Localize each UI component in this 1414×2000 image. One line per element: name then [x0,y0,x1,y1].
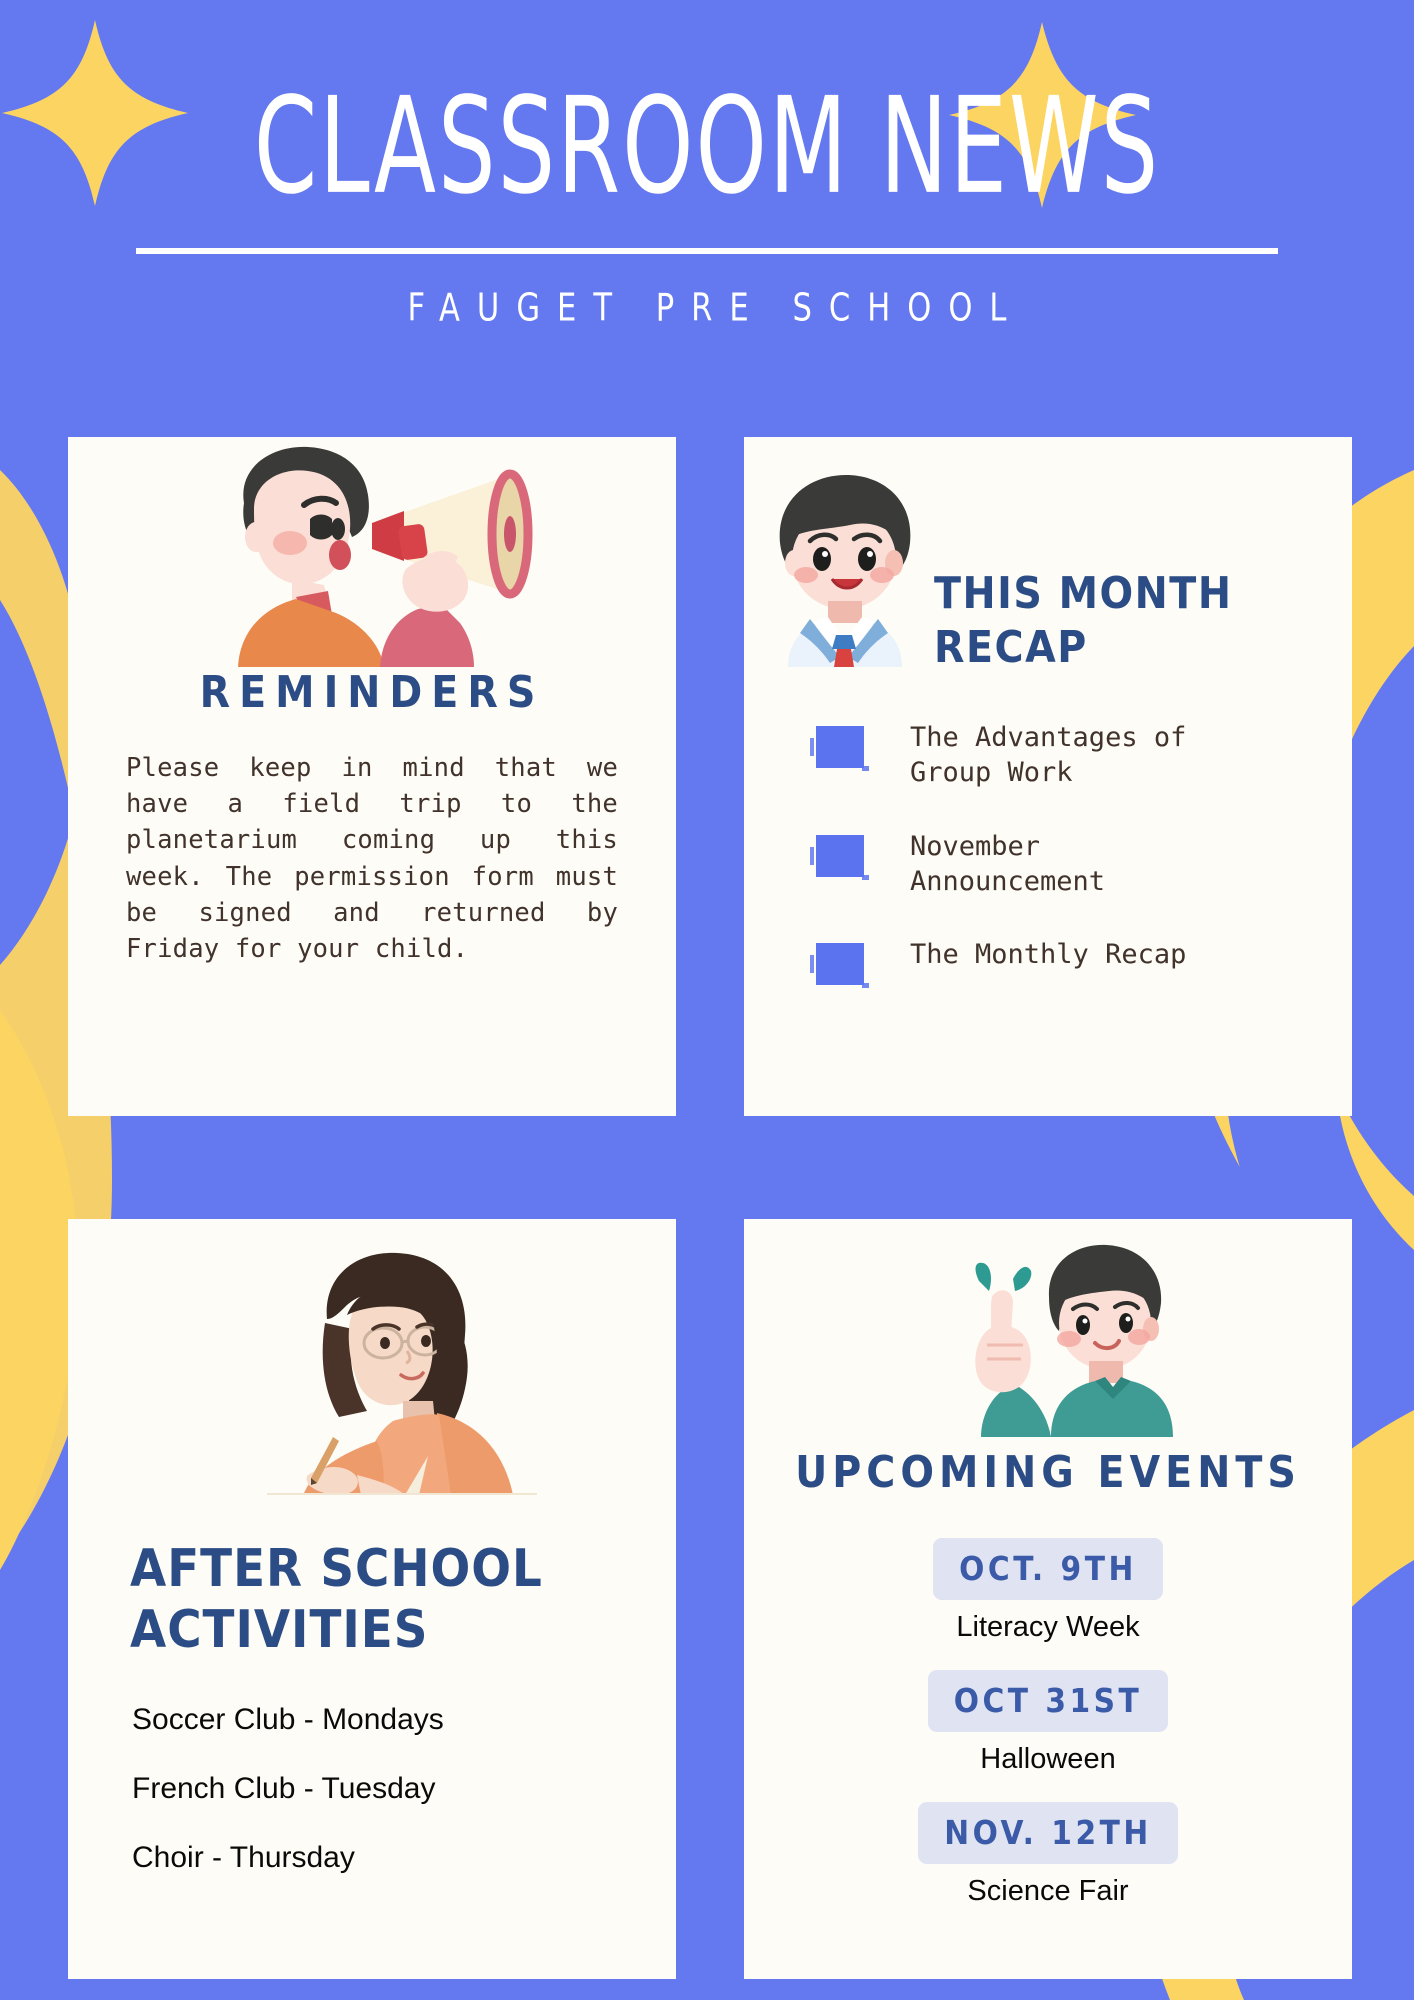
event-name: Literacy Week [744,1611,1352,1644]
card-after-school: AFTER SCHOOL ACTIVITIES Soccer Club - Mo… [68,1219,676,1979]
recap-item-label: The Advantages of Group Work [910,720,1220,790]
list-item: November Announcement [780,829,1352,899]
event-date-badge: OCT. 9TH [933,1538,1163,1600]
sailor-boy-illustration [754,467,934,671]
recap-item-label: November Announcement [910,829,1220,899]
megaphone-illustration [68,437,676,667]
cards-grid: REMINDERS Please keep in mind that we ha… [68,437,1352,1979]
list-item: NOV. 12TH Science Fair [744,1802,1352,1908]
after-school-heading-line1: AFTER SCHOOL [130,1539,676,1600]
list-item: Soccer Club - Mondays [132,1703,676,1737]
cards-row-top: REMINDERS Please keep in mind that we ha… [68,437,1352,1116]
card-recap: THIS MONTH RECAP The Advantages of Group… [744,437,1352,1116]
list-item: OCT 31ST Halloween [744,1670,1352,1776]
upcoming-events-list: OCT. 9TH Literacy Week OCT 31ST Hallowee… [744,1538,1352,1908]
event-date-badge: OCT 31ST [928,1670,1169,1732]
recap-heading-line1: THIS MONTH [934,567,1232,621]
poster-header: CLASSROOM NEWS FAUGET PRE SCHOOL [0,0,1414,328]
recap-heading: THIS MONTH RECAP [934,567,1232,674]
after-school-list: Soccer Club - Mondays French Club - Tues… [132,1703,676,1875]
teacher-writing-illustration [68,1219,676,1495]
list-item: Choir - Thursday [132,1841,676,1875]
event-name: Science Fair [744,1875,1352,1908]
card-upcoming-events: UPCOMING EVENTS OCT. 9TH Literacy Week O… [744,1219,1352,1979]
recap-list: The Advantages of Group Work November An… [780,720,1352,984]
page-title: CLASSROOM NEWS [21,78,1393,214]
after-school-heading: AFTER SCHOOL ACTIVITIES [130,1539,676,1661]
reminders-body: Please keep in mind that we have a field… [126,750,618,967]
list-item: The Monthly Recap [780,937,1352,985]
bullet-square-icon [816,726,864,768]
bullet-square-icon [816,943,864,985]
event-name: Halloween [744,1743,1352,1776]
list-item: The Advantages of Group Work [780,720,1352,790]
after-school-heading-line2: ACTIVITIES [130,1600,676,1661]
card-reminders: REMINDERS Please keep in mind that we ha… [68,437,676,1116]
title-divider [136,248,1278,254]
event-date-badge: NOV. 12TH [918,1802,1177,1864]
list-item: French Club - Tuesday [132,1772,676,1806]
bullet-square-icon [816,835,864,877]
thumbs-up-boy-illustration [744,1219,1352,1437]
list-item: OCT. 9TH Literacy Week [744,1538,1352,1644]
cards-row-bottom: AFTER SCHOOL ACTIVITIES Soccer Club - Mo… [68,1219,1352,1979]
reminders-heading: REMINDERS [68,667,676,718]
upcoming-events-heading: UPCOMING EVENTS [744,1447,1352,1498]
recap-header: THIS MONTH RECAP [744,437,1352,674]
school-subtitle: FAUGET PRE SCHOOL [0,286,1414,331]
recap-item-label: The Monthly Recap [910,937,1186,972]
recap-heading-line2: RECAP [934,621,1232,675]
